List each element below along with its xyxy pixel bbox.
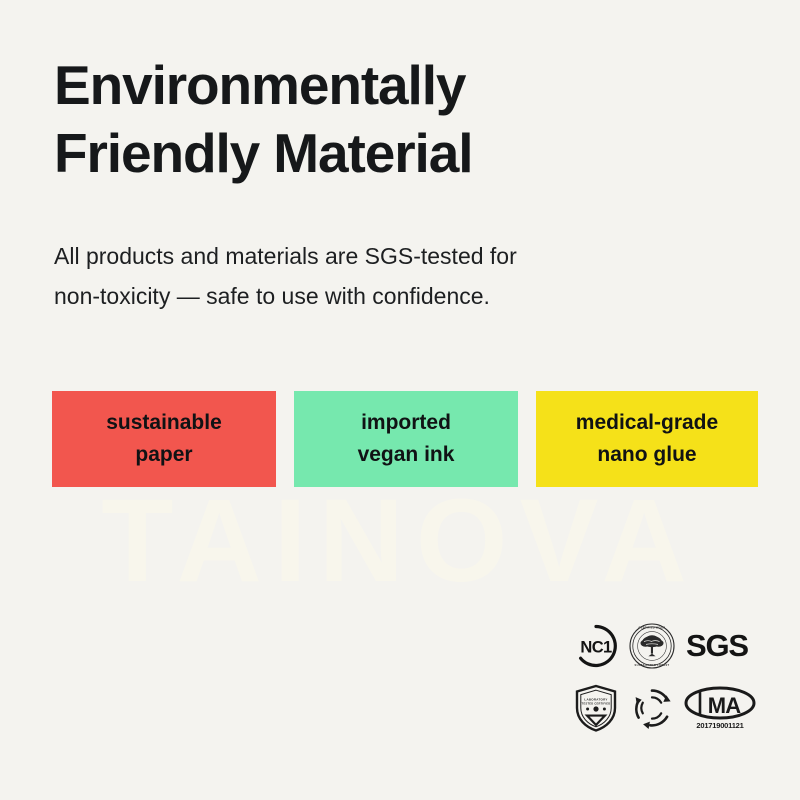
svg-text:CERTIFIED WOOD: CERTIFIED WOOD <box>639 625 666 629</box>
certification-row-1: NC1 <box>572 618 778 674</box>
svg-text:SUSTAINABLE FOREST: SUSTAINABLE FOREST <box>635 663 670 667</box>
material-tag-medical-grade-nano-glue: medical-grade nano glue <box>536 391 758 487</box>
material-tag-line-1: imported <box>361 409 451 437</box>
svg-text:NC1: NC1 <box>580 639 612 657</box>
page-subtitle: All products and materials are SGS-teste… <box>54 237 674 316</box>
page-title: Environmentally Friendly Material <box>54 52 694 187</box>
material-tag-imported-vegan-ink: imported vegan ink <box>294 391 518 487</box>
svg-text:LABORATORY: LABORATORY <box>584 698 607 702</box>
material-tag-line-1: sustainable <box>106 409 222 437</box>
page-subtitle-line-2: non-toxicity — safe to use with confiden… <box>54 277 674 317</box>
poster-canvas: TAINOVA Environmentally Friendly Materia… <box>0 0 800 800</box>
svg-text:MA: MA <box>708 693 742 718</box>
nc1-icon: NC1 <box>572 622 620 670</box>
forest-tree-seal-icon: CERTIFIED WOOD SUSTAINABLE FOREST <box>628 622 676 670</box>
cma-icon: MA 201719001121 <box>684 686 756 730</box>
page-title-line-2: Friendly Material <box>54 120 694 188</box>
material-tag-sustainable-paper: sustainable paper <box>52 391 276 487</box>
material-tag-line-1: medical-grade <box>576 409 718 437</box>
certification-badge-group: NC1 <box>572 618 778 736</box>
sgs-logo: SGS <box>684 624 754 668</box>
material-tag-line-2: vegan ink <box>358 441 455 469</box>
page-subtitle-line-1: All products and materials are SGS-teste… <box>54 237 674 277</box>
page-title-line-1: Environmentally <box>54 52 694 120</box>
material-tag-line-2: paper <box>135 441 192 469</box>
cma-code-text: 201719001121 <box>696 721 743 730</box>
certification-row-2: LABORATORY TESTED CERTIFIED <box>572 680 778 736</box>
sgs-logo-text: SGS <box>686 628 748 663</box>
material-tag-line-2: nano glue <box>597 441 696 469</box>
material-tag-row: sustainable paper imported vegan ink med… <box>52 391 758 487</box>
shield-icon: LABORATORY TESTED CERTIFIED <box>572 683 620 733</box>
recycling-icon <box>628 684 676 732</box>
brand-watermark: TAINOVA <box>0 482 800 600</box>
svg-text:TESTED CERTIFIED: TESTED CERTIFIED <box>582 701 611 705</box>
